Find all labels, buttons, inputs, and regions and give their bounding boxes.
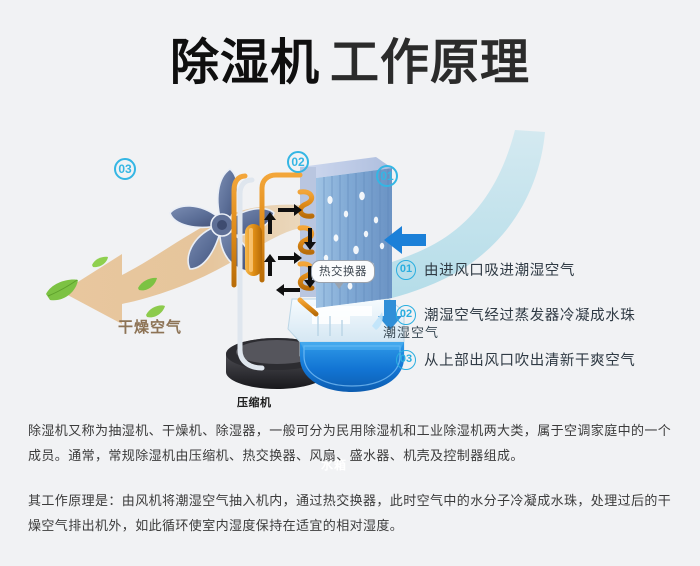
step-item: 03 从上部出风口吹出清新干爽空气 <box>396 348 686 371</box>
step-text-03: 从上部出风口吹出清新干爽空气 <box>424 349 635 370</box>
step-badge-02: 02 <box>396 305 416 325</box>
page-title: 除湿机工作原理 <box>0 33 700 93</box>
page-title-part1: 除湿机 <box>170 36 320 90</box>
water-tank <box>300 342 404 392</box>
step-text-02: 潮湿空气经过蒸发器冷凝成水珠 <box>424 304 635 325</box>
step-item: 02 潮湿空气经过蒸发器冷凝成水珠 <box>396 303 686 326</box>
step-list: 01 由进风口吸进潮湿空气 02 潮湿空气经过蒸发器冷凝成水珠 03 从上部出风… <box>396 258 686 393</box>
step-item: 01 由进风口吸进潮湿空气 <box>396 258 686 281</box>
badge-02: 02 <box>287 151 309 173</box>
accumulator-cylinder <box>245 224 262 276</box>
body-copy: 除湿机又称为抽湿机、干燥机、除湿器，一般可分为民用除湿机和工业除湿机两大类，属于… <box>28 418 676 538</box>
dry-air-label: 干燥空气 <box>118 316 182 337</box>
badge-01: 01 <box>376 165 398 187</box>
step-badge-03: 03 <box>396 350 416 370</box>
badge-03: 03 <box>114 158 136 180</box>
infographic-canvas: 除湿机工作原理 <box>0 0 700 566</box>
page-title-part2: 工作原理 <box>330 36 530 90</box>
heat-exchanger-callout: 热交换器 <box>311 260 375 283</box>
step-badge-01: 01 <box>396 260 416 280</box>
paragraph-2: 其工作原理是：由风机将潮湿空气抽入机内，通过热交换器，此时空气中的水分子冷凝成水… <box>28 488 676 538</box>
step-text-01: 由进风口吸进潮湿空气 <box>424 259 575 280</box>
paragraph-1: 除湿机又称为抽湿机、干燥机、除湿器，一般可分为民用除湿机和工业除湿机两大类，属于… <box>28 418 676 468</box>
compressor-label: 压缩机 <box>237 394 272 410</box>
